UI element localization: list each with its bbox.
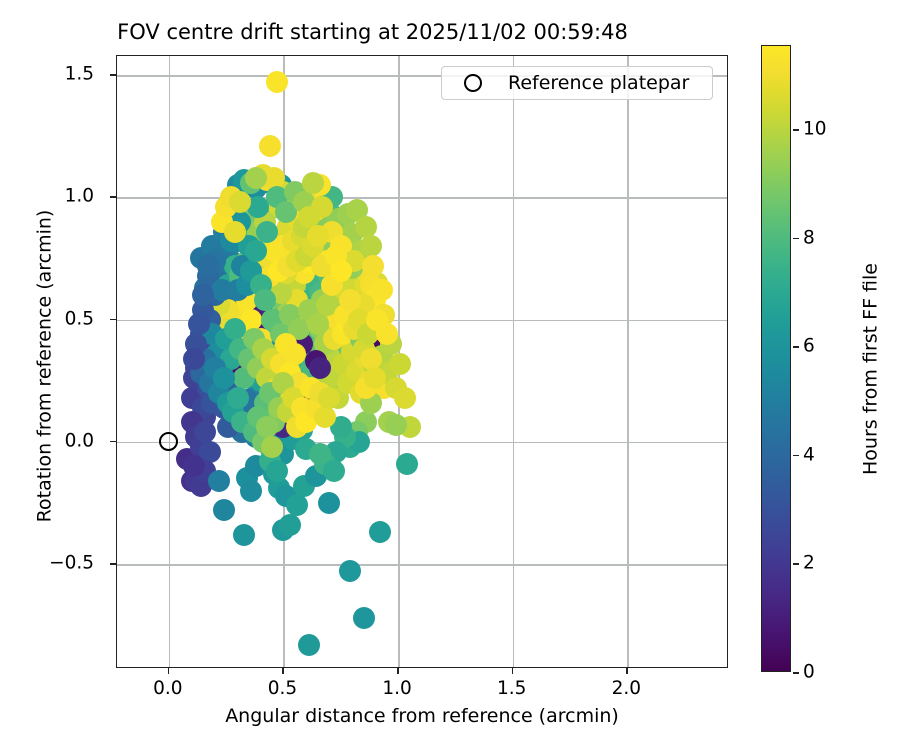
scatter-point [279, 514, 301, 536]
legend: Reference platepar [441, 66, 713, 100]
colorbar-tick-label: 10 [803, 119, 827, 140]
gridline-vertical [169, 56, 171, 667]
reference-platepar-point [159, 432, 178, 451]
scatter-point [369, 521, 391, 543]
x-axis-label: Angular distance from reference (arcmin) [116, 705, 728, 727]
y-axis-tick [110, 319, 116, 321]
legend-entry-label: Reference platepar [508, 72, 689, 94]
scatter-point [224, 221, 246, 243]
scatter-point [256, 221, 278, 243]
scatter-point [208, 470, 230, 492]
scatter-point [385, 414, 407, 436]
scatter-point [302, 172, 324, 194]
gridline-vertical [513, 56, 515, 667]
scatter-point [362, 255, 384, 277]
scatter-point [213, 367, 235, 389]
colorbar-tick [793, 238, 799, 240]
scatter-point [389, 353, 411, 375]
scatter-point [266, 71, 288, 93]
scatter-point [233, 524, 255, 546]
scatter-point [194, 421, 216, 443]
scatter-point [396, 453, 418, 475]
colorbar [761, 45, 791, 672]
scatter-point [360, 348, 382, 370]
y-axis-tick [110, 74, 116, 76]
scatter-point [240, 480, 262, 502]
scatter-point [227, 387, 249, 409]
scatter-point [188, 313, 210, 335]
scatter-point [298, 634, 320, 656]
scatter-point [376, 323, 398, 345]
colorbar-tick [793, 563, 799, 565]
y-axis-tick-label: 0.0 [65, 430, 94, 451]
scatter-point [339, 560, 361, 582]
scatter-point [394, 387, 416, 409]
y-axis-tick-label: −0.5 [49, 553, 94, 574]
colorbar-tick-label: 8 [803, 227, 815, 248]
colorbar-tick-label: 4 [803, 444, 815, 465]
x-axis-tick [626, 668, 628, 674]
scatter-point [259, 135, 281, 157]
scatter-point [245, 240, 267, 262]
y-axis-tick [110, 441, 116, 443]
scatter-point [286, 494, 308, 516]
x-axis-tick [397, 668, 399, 674]
x-axis-tick-label: 1.5 [497, 678, 526, 699]
scatter-point [318, 387, 340, 409]
gridline-horizontal [117, 564, 727, 566]
y-axis-tick-label: 1.0 [65, 186, 94, 207]
plot-area [116, 55, 728, 668]
colorbar-tick-label: 2 [803, 553, 815, 574]
scatter-point [254, 289, 276, 311]
x-axis-tick [168, 668, 170, 674]
colorbar-tick [793, 129, 799, 131]
y-axis-tick [110, 563, 116, 565]
scatter-point [197, 255, 219, 277]
scatter-point [266, 460, 288, 482]
scatter-point [213, 499, 235, 521]
scatter-point [353, 607, 375, 629]
scatter-point [318, 492, 340, 514]
scatter-point [309, 443, 331, 465]
scatter-point [183, 348, 205, 370]
x-axis-tick-label: 0.5 [268, 678, 297, 699]
scatter-point [330, 260, 352, 282]
colorbar-tick [793, 346, 799, 348]
colorbar-label: Hours from first FF file [860, 56, 882, 683]
colorbar-tick-label: 6 [803, 336, 815, 357]
reference-platepar-marker-icon [464, 74, 482, 92]
scatter-point [284, 343, 306, 365]
colorbar-tick [793, 672, 799, 674]
x-axis-tick-label: 2.0 [612, 678, 641, 699]
y-axis-tick-label: 1.5 [65, 64, 94, 85]
y-axis-tick [110, 196, 116, 198]
scatter-point [245, 167, 267, 189]
x-axis-tick-label: 0.0 [153, 678, 182, 699]
scatter-point [229, 191, 251, 213]
scatter-point [314, 406, 336, 428]
page-title: FOV centre drift starting at 2025/11/02 … [0, 20, 745, 44]
colorbar-tick [793, 455, 799, 457]
scatter-point [323, 460, 345, 482]
y-axis-tick-label: 0.5 [65, 308, 94, 329]
scatter-point [339, 289, 361, 311]
x-axis-tick [282, 668, 284, 674]
scatter-point [261, 436, 283, 458]
y-axis-label: Rotation from reference (arcmin) [34, 60, 56, 673]
scatter-point [371, 279, 393, 301]
gridline-horizontal [117, 197, 727, 199]
figure-canvas: FOV centre drift starting at 2025/11/02 … [0, 0, 900, 750]
gridline-vertical [627, 56, 629, 667]
colorbar-tick-label: 0 [803, 662, 815, 683]
x-axis-tick-label: 1.0 [382, 678, 411, 699]
x-axis-tick [512, 668, 514, 674]
